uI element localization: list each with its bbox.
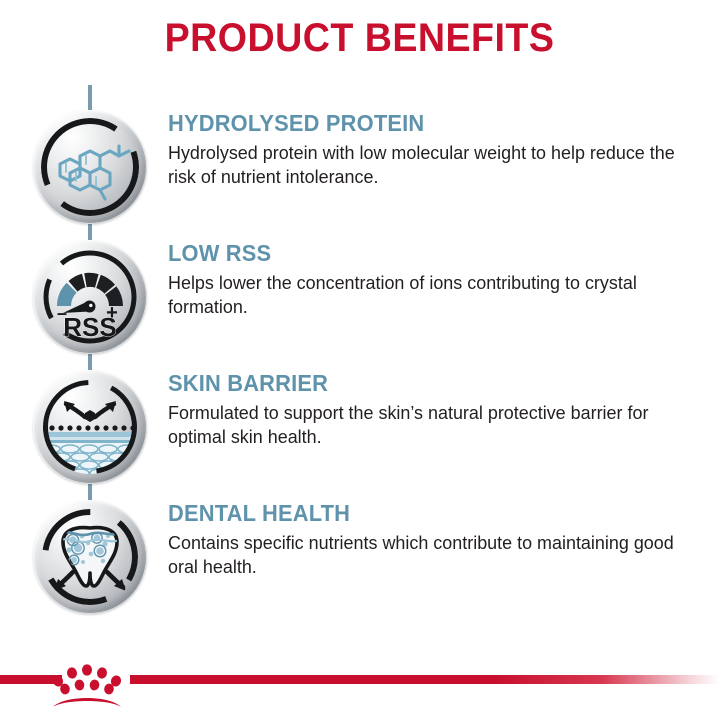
footer-bar-right: [130, 675, 719, 684]
gauge-rss-label: RSS: [63, 312, 116, 342]
benefit-item-hydrolysed-protein: HYDROLYSED PROTEIN Hydrolysed protein wi…: [0, 97, 719, 227]
benefit-item-skin-barrier: SKIN BARRIER Formulated to support the s…: [0, 357, 719, 487]
benefit-body: Formulated to support the skin’s natural…: [168, 401, 680, 448]
rss-gauge-icon: – + RSS: [33, 240, 147, 354]
benefit-heading: HYDROLYSED PROTEIN: [168, 111, 670, 136]
benefit-item-low-rss: – + RSS LOW RSS Helps lower the concentr…: [0, 227, 719, 357]
benefit-text-block: SKIN BARRIER Formulated to support the s…: [168, 371, 696, 449]
benefit-icon-badge: [33, 370, 147, 484]
benefit-heading: DENTAL HEALTH: [168, 501, 670, 526]
benefit-body: Contains specific nutrients which contri…: [168, 531, 680, 578]
benefit-heading: SKIN BARRIER: [168, 371, 670, 396]
benefit-text-block: LOW RSS Helps lower the concentration of…: [168, 241, 696, 319]
tooth-icon: [33, 500, 147, 614]
page-title: PRODUCT BENEFITS: [22, 16, 698, 60]
benefit-body: Helps lower the concentration of ions co…: [168, 271, 680, 318]
benefits-list: HYDROLYSED PROTEIN Hydrolysed protein wi…: [0, 97, 719, 617]
benefit-icon-badge: [33, 500, 147, 614]
benefit-heading: LOW RSS: [168, 241, 670, 266]
skin-barrier-icon: [33, 370, 147, 484]
benefit-body: Hydrolysed protein with low molecular we…: [168, 141, 680, 188]
benefit-icon-badge: [33, 110, 147, 224]
benefit-text-block: DENTAL HEALTH Contains specific nutrient…: [168, 501, 696, 579]
footer: [0, 662, 719, 720]
benefit-icon-badge: – + RSS: [33, 240, 147, 354]
benefit-text-block: HYDROLYSED PROTEIN Hydrolysed protein wi…: [168, 111, 696, 189]
royal-canin-crown-logo: [48, 662, 126, 710]
benefit-item-dental-health: DENTAL HEALTH Contains specific nutrient…: [0, 487, 719, 617]
connector-line: [88, 85, 92, 113]
molecule-icon: [33, 110, 147, 224]
